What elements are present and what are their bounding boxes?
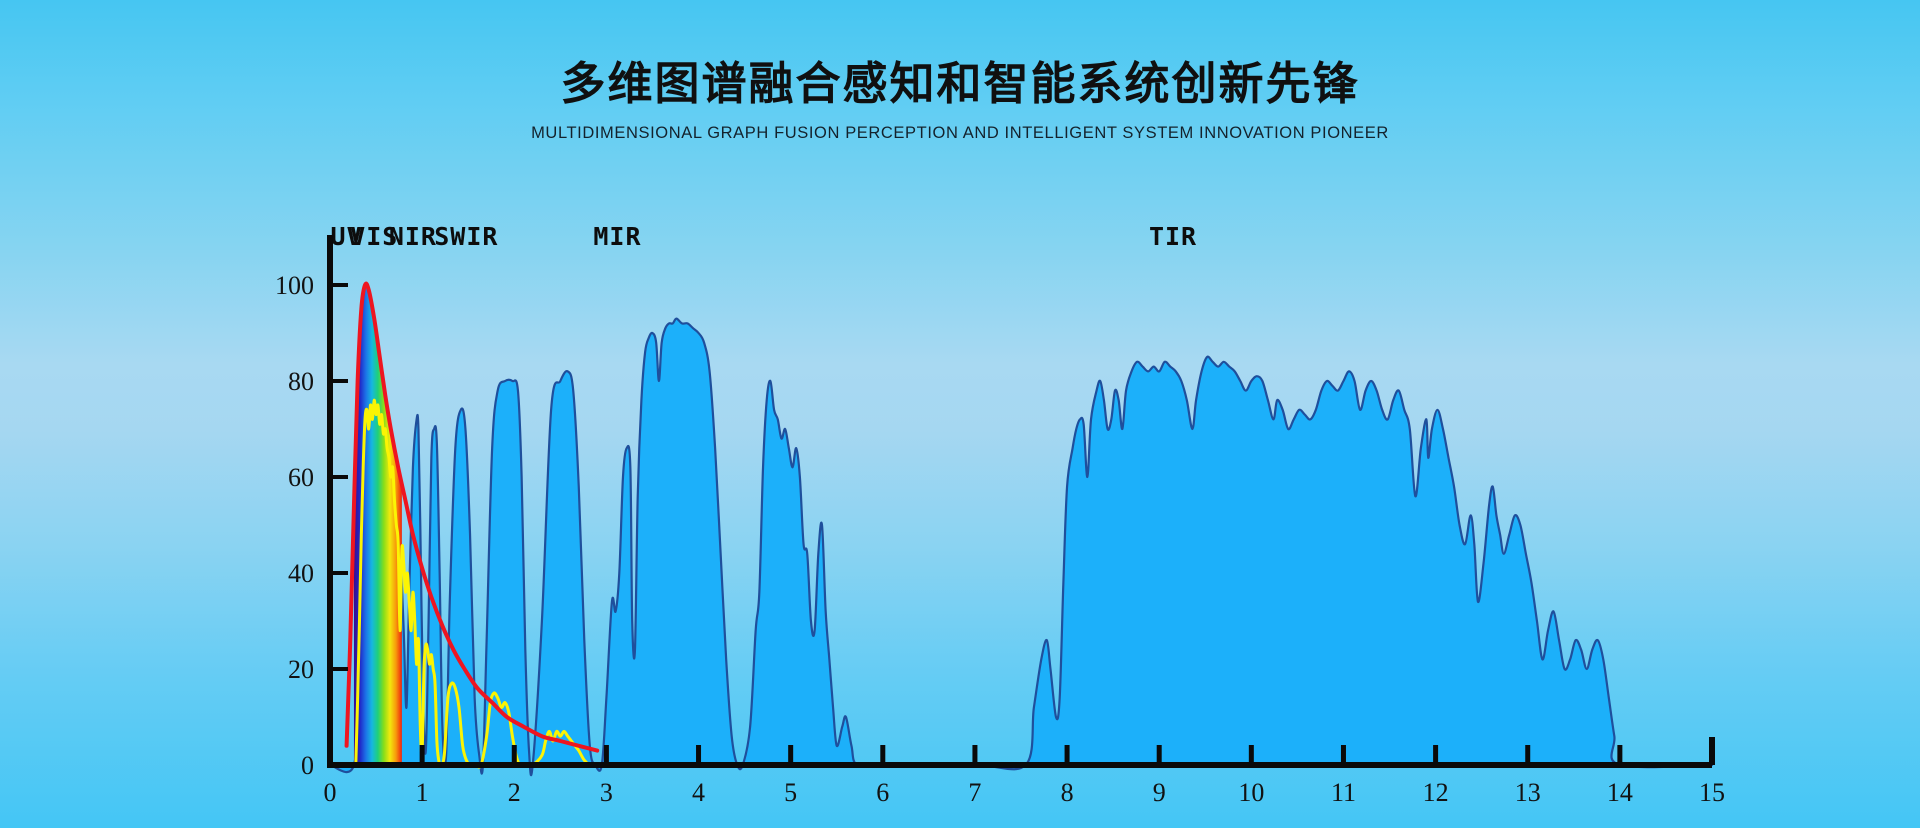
x-axis-tick-label: 6 (876, 778, 889, 807)
y-axis-tick-label: 80 (288, 367, 314, 396)
x-axis-tick-label: 4 (692, 778, 705, 807)
x-axis-tick-label: 2 (508, 778, 521, 807)
y-axis-tick-label: 60 (288, 463, 314, 492)
x-axis-tick-label: 5 (784, 778, 797, 807)
x-axis-tick-label: 13 (1515, 778, 1541, 807)
x-axis-tick-label: 14 (1607, 778, 1633, 807)
spectrum-plot-svg: 0204060801000123456789101112131415 (0, 0, 1920, 828)
y-axis-tick-label: 100 (275, 271, 314, 300)
spectrum-chart: 0204060801000123456789101112131415 (0, 0, 1920, 828)
y-axis-tick-label: 20 (288, 655, 314, 684)
x-axis-tick-label: 7 (968, 778, 981, 807)
x-axis-tick-label: 10 (1238, 778, 1264, 807)
x-axis-tick-label: 15 (1699, 778, 1725, 807)
atmospheric-transmission-area (330, 319, 1712, 776)
x-axis-tick-label: 9 (1153, 778, 1166, 807)
x-axis-tick-label: 1 (416, 778, 429, 807)
x-axis-tick-label: 11 (1331, 778, 1356, 807)
x-axis-tick-label: 8 (1061, 778, 1074, 807)
x-axis-tick-label: 0 (324, 778, 337, 807)
x-axis-tick-label: 3 (600, 778, 613, 807)
x-axis-tick-label: 12 (1423, 778, 1449, 807)
y-axis-tick-label: 40 (288, 559, 314, 588)
y-axis-tick-label: 0 (301, 751, 314, 780)
